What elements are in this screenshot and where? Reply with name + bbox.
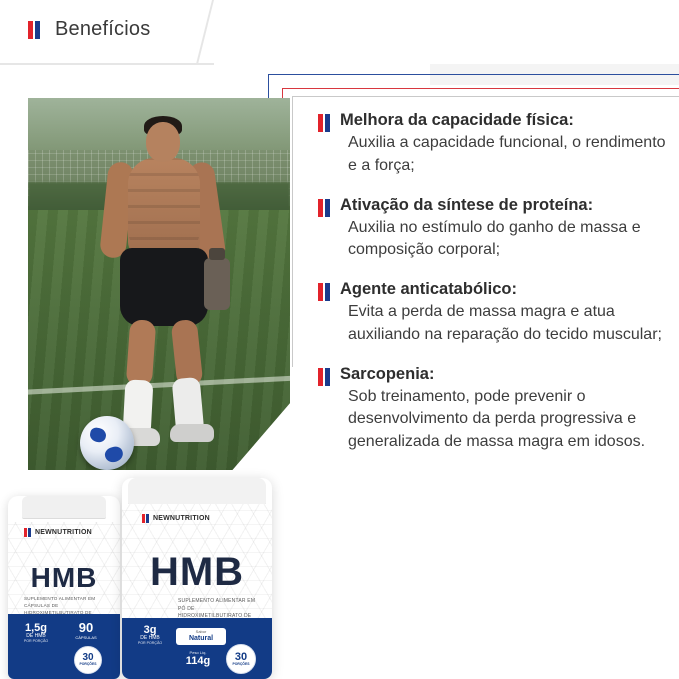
athlete-right-shoe bbox=[170, 424, 214, 442]
powder-portions-badge: 30 PORÇÕES bbox=[226, 644, 256, 674]
capsules-count-group: 90 CÁPSULAS bbox=[66, 620, 106, 640]
capsules-brand-row: NEWNUTRITION bbox=[24, 528, 92, 537]
header-bottom-edge bbox=[0, 63, 214, 65]
benefit-title: Melhora da capacidade física: bbox=[340, 110, 668, 131]
benefits-list: Melhora da capacidade física: Auxilia a … bbox=[318, 110, 668, 471]
water-bottle-cap bbox=[209, 248, 225, 260]
powder-brand-name: NEWNUTRITION bbox=[153, 515, 210, 522]
capsules-bottle-cap bbox=[22, 496, 106, 519]
capsules-brand-name: NEWNUTRITION bbox=[35, 529, 92, 536]
powder-flavour-value: Natural bbox=[180, 635, 222, 643]
product-images: NEWNUTRITION HMB SUPLEMENTO ALIMENTAR EM… bbox=[0, 470, 300, 679]
page-title: Benefícios bbox=[55, 18, 150, 41]
powder-weight-value: 114g bbox=[174, 655, 222, 667]
capsules-dose-badge: 1,5g DE HMB POR PORÇÃO bbox=[16, 622, 56, 644]
benefit-item: Ativação da síntese de proteína: Auxilia… bbox=[318, 195, 668, 263]
benefit-description: Sob treinamento, pode prevenir o desenvo… bbox=[340, 386, 668, 454]
benefit-item: Melhora da capacidade física: Auxilia a … bbox=[318, 110, 668, 178]
capsules-count-label: CÁPSULAS bbox=[66, 635, 106, 640]
bullet-flag-icon bbox=[318, 199, 331, 217]
capsules-dose-note: POR PORÇÃO bbox=[16, 640, 56, 644]
benefit-description: Auxilia a capacidade funcional, o rendim… bbox=[340, 132, 668, 177]
brand-flag-icon bbox=[28, 21, 41, 39]
capsules-portions-badge: 30 PORÇÕES bbox=[74, 646, 102, 674]
brand-flag-icon bbox=[24, 528, 31, 537]
powder-brand-row: NEWNUTRITION bbox=[142, 514, 210, 523]
powder-jar-cap bbox=[128, 478, 266, 505]
bullet-flag-icon bbox=[318, 283, 331, 301]
benefit-description: Auxilia no estímulo do ganho de massa e … bbox=[340, 217, 668, 262]
photo-field-line bbox=[28, 373, 290, 396]
capsules-count-value: 90 bbox=[66, 620, 106, 635]
powder-product-name: HMB bbox=[122, 550, 272, 595]
benefit-title: Sarcopenia: bbox=[340, 364, 668, 385]
benefit-item: Sarcopenia: Sob treinamento, pode preven… bbox=[318, 364, 668, 454]
capsules-portions-label: PORÇÕES bbox=[80, 663, 97, 666]
athlete-photo bbox=[28, 98, 290, 470]
product-powder-jar: NEWNUTRITION HMB SUPLEMENTO ALIMENTAR EM… bbox=[122, 478, 272, 679]
benefits-infographic-page: Benefícios bbox=[0, 0, 679, 679]
powder-flavour-chip: Sabor Natural bbox=[176, 628, 226, 645]
powder-portions-label: PORÇÕES bbox=[233, 663, 250, 666]
soccer-ball bbox=[80, 416, 134, 470]
capsules-product-name: HMB bbox=[8, 562, 120, 594]
water-bottle bbox=[204, 258, 230, 310]
athlete-torso-shading bbox=[128, 158, 200, 256]
bullet-flag-icon bbox=[318, 114, 331, 132]
powder-weight-note: Peso Líq. bbox=[174, 650, 222, 655]
athlete-shorts bbox=[120, 248, 208, 326]
brand-flag-icon bbox=[142, 514, 149, 523]
benefit-title: Ativação da síntese de proteína: bbox=[340, 195, 668, 216]
bullet-flag-icon bbox=[318, 368, 331, 386]
athlete-left-leg bbox=[126, 319, 157, 387]
header-title-group: Benefícios bbox=[28, 18, 150, 41]
benefit-title: Agente anticatabólico: bbox=[340, 279, 668, 300]
benefit-description: Evita a perda de massa magra e atua auxi… bbox=[340, 301, 668, 346]
powder-dose-badge: 3g DE HMB POR PORÇÃO bbox=[130, 624, 170, 646]
powder-dose-note: POR PORÇÃO bbox=[130, 642, 170, 646]
powder-weight-group: Peso Líq. 114g bbox=[174, 650, 222, 667]
benefit-item: Agente anticatabólico: Evita a perda de … bbox=[318, 279, 668, 347]
athlete-head bbox=[146, 122, 180, 162]
product-capsules-bottle: NEWNUTRITION HMB SUPLEMENTO ALIMENTAR EM… bbox=[8, 496, 120, 679]
